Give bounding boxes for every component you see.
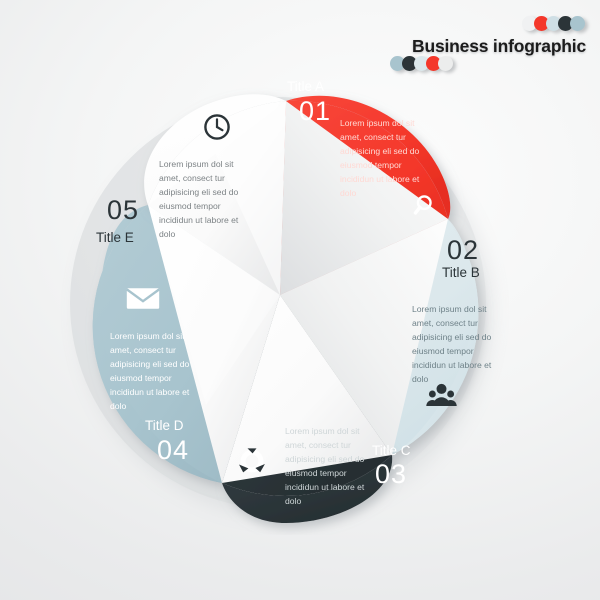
- infographic-canvas: Business infographic: [0, 0, 600, 600]
- dot-blue-grey: [570, 16, 585, 31]
- decorative-dot-row-top: [522, 16, 582, 31]
- pinwheel-diagram: [40, 55, 520, 535]
- page-title: Business infographic: [412, 36, 586, 57]
